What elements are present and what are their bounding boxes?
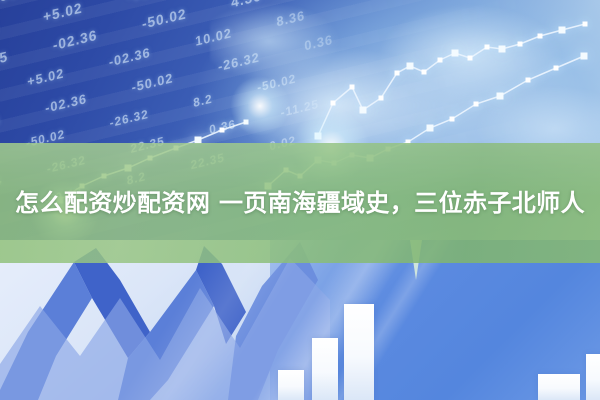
chart-node [497, 93, 504, 100]
chart-node [468, 56, 473, 61]
chart-node [220, 128, 225, 133]
chart-node [450, 117, 455, 122]
lower-chart-area [0, 240, 600, 400]
chart-node [422, 70, 427, 75]
chart-node [499, 46, 506, 53]
node-group-upper [315, 22, 588, 140]
chart-node [554, 66, 559, 71]
bar-column [312, 338, 338, 400]
chart-node [438, 58, 443, 63]
chart-node [360, 107, 367, 114]
chart-node [331, 101, 336, 106]
bar-column [344, 304, 374, 400]
bar-column [538, 374, 580, 400]
chart-node [244, 120, 249, 125]
chart-node [485, 45, 490, 50]
chart-node [526, 78, 531, 83]
bar-column [278, 370, 304, 400]
chart-node [518, 42, 523, 47]
chart-node [427, 125, 434, 132]
chart-node [407, 63, 414, 70]
chart-node [379, 96, 384, 101]
chart-node [474, 102, 479, 107]
chart-node [583, 22, 588, 27]
chart-node [538, 34, 543, 39]
chart-node [350, 85, 355, 90]
bar-column [586, 354, 600, 400]
chart-node [559, 27, 566, 34]
chart-node [315, 133, 322, 140]
title-container: 怎么配资炒配资网 一页南海疆域史，三位赤子北师人 [0, 143, 600, 263]
chart-node [452, 50, 459, 57]
chart-node [581, 53, 588, 60]
chart-node [395, 71, 400, 76]
banner-image: -50.02-02.36+5.02-11.25-02.3621.05 -02.3… [0, 0, 600, 400]
page-title: 怎么配资炒配资网 一页南海疆域史，三位赤子北师人 [15, 184, 585, 222]
